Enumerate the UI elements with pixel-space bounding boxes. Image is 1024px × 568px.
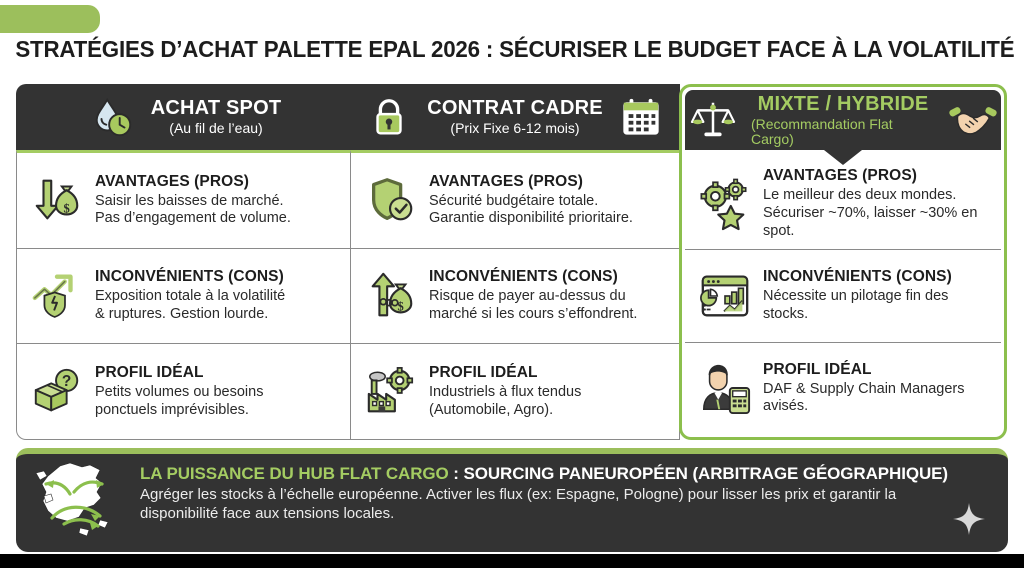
strategy-matrix: ACHAT SPOT (Au fil de l’eau) $ (16, 84, 1008, 440)
cell-profile: PROFIL IDÉAL Industriels à flux tendus(A… (351, 344, 679, 439)
column-subtitle: (Recommandation Flat Cargo) (751, 117, 935, 146)
cell-heading: INCONVÉNIENTS (CONS) (429, 268, 637, 286)
hub-banner-headline-rest: SOURCING PANEUROPÉEN (ARBITRAGE GÉOGRAPH… (463, 464, 947, 483)
infographic-page: STRATÉGIES D’ACHAT PALETTE EPAL 2026 : S… (0, 0, 1024, 568)
volatility-arrow-broken-shield-icon (29, 268, 85, 324)
cell-heading: AVANTAGES (PROS) (429, 173, 633, 191)
cell-heading: PROFIL IDÉAL (95, 364, 263, 382)
column-body-achat-spot: $ AVANTAGES (PROS) Saisir les baisses de… (16, 150, 350, 440)
hub-banner-headline-separator: : (449, 464, 464, 483)
column-header-mixte-hybride: MIXTE / HYBRIDE (Recommandation Flat Car… (685, 90, 1001, 150)
column-subtitle: (Prix Fixe 6-12 mois) (450, 121, 579, 136)
cell-heading: AVANTAGES (PROS) (763, 167, 991, 185)
sparkle-icon (952, 502, 986, 536)
dashboard-analytics-icon (697, 268, 753, 324)
cell-cons: INCONVÉNIENTS (CONS) Nécessite un pilota… (685, 250, 1001, 342)
page-title: STRATÉGIES D’ACHAT PALETTE EPAL 2026 : S… (15, 36, 1008, 63)
padlock-icon (361, 89, 417, 145)
cell-profile: PROFIL IDÉAL DAF & Supply Chain Managers… (685, 343, 1001, 434)
cell-body: DAF & Supply Chain Managersavisés. (763, 381, 965, 416)
cell-body: Sécurité budgétaire totale.Garantie disp… (429, 193, 633, 228)
hub-banner-headline-highlight: LA PUISSANCE DU HUB FLAT CARGO (140, 464, 449, 483)
hub-banner-text: LA PUISSANCE DU HUB FLAT CARGO : SOURCIN… (134, 454, 1008, 524)
cell-heading: INCONVÉNIENTS (CONS) (95, 268, 285, 286)
cell-heading: AVANTAGES (PROS) (95, 173, 291, 191)
svg-text:$: $ (64, 202, 70, 216)
cell-pros: $ AVANTAGES (PROS) Saisir les baisses de… (17, 153, 350, 249)
calendar-icon (613, 89, 669, 145)
up-arrow-chained-money-bag-icon: $ (363, 268, 419, 324)
svg-text:$: $ (398, 299, 404, 313)
cell-profile: ? PROFIL IDÉAL Petits volumes ou besoins… (17, 344, 350, 439)
cell-body: Exposition totale à la volatilité& ruptu… (95, 288, 285, 323)
hub-banner-body: Agréger les stocks à l’échelle européenn… (140, 486, 896, 523)
cell-heading: INCONVÉNIENTS (CONS) (763, 268, 952, 286)
cell-cons: $ INCONVÉNIENTS (CONS) Risque de payer a… (351, 249, 679, 345)
businessman-calculator-icon (697, 360, 753, 416)
cell-body: Le meilleur des deux mondes.Sécuriser ~7… (763, 187, 991, 240)
cell-heading: PROFIL IDÉAL (763, 361, 965, 379)
cell-body: Risque de payer au-dessus dumarché si le… (429, 288, 637, 323)
down-arrow-money-bag-icon: $ (29, 172, 85, 228)
europe-map-flows-icon (28, 458, 128, 544)
cell-body: Industriels à flux tendus(Automobile, Ag… (429, 384, 581, 419)
column-achat-spot: ACHAT SPOT (Au fil de l’eau) $ (16, 84, 350, 440)
cell-body: Nécessite un pilotage fin desstocks. (763, 288, 952, 323)
corner-accent-tab (0, 5, 100, 33)
box-question-mark-icon: ? (29, 364, 85, 420)
cell-pros: AVANTAGES (PROS) Sécurité budgétaire tot… (351, 153, 679, 249)
gears-star-icon (697, 176, 753, 232)
column-title: MIXTE / HYBRIDE (758, 94, 929, 115)
column-header-contrat-cadre: CONTRAT CADRE (Prix Fixe 6-12 mois) (350, 84, 680, 150)
column-body-mixte-hybride: AVANTAGES (PROS) Le meilleur des deux mo… (685, 150, 1001, 434)
factory-gear-icon (363, 364, 419, 420)
cell-cons: INCONVÉNIENTS (CONS) Exposition totale à… (17, 249, 350, 345)
cell-body: Petits volumes ou besoinsponctuels impré… (95, 384, 263, 419)
column-title: CONTRAT CADRE (427, 98, 603, 119)
column-contrat-cadre: CONTRAT CADRE (Prix Fixe 6-12 mois) (350, 84, 680, 440)
column-header-achat-spot: ACHAT SPOT (Au fil de l’eau) (16, 84, 350, 150)
cell-pros: AVANTAGES (PROS) Le meilleur des deux mo… (685, 150, 1001, 250)
column-title: ACHAT SPOT (151, 98, 282, 119)
column-mixte-hybride: MIXTE / HYBRIDE (Recommandation Flat Car… (679, 84, 1007, 440)
column-subtitle: (Au fil de l’eau) (169, 121, 262, 136)
cell-body: Saisir les baisses de marché.Pas d’engag… (95, 193, 291, 228)
balance-scale-icon (685, 92, 741, 148)
hub-banner: LA PUISSANCE DU HUB FLAT CARGO : SOURCIN… (16, 448, 1008, 552)
water-drop-icon (85, 89, 141, 145)
recommendation-pointer (824, 150, 862, 165)
handshake-icon (945, 92, 1001, 148)
hub-banner-headline: LA PUISSANCE DU HUB FLAT CARGO : SOURCIN… (140, 464, 948, 483)
cell-heading: PROFIL IDÉAL (429, 364, 581, 382)
footer-strip (0, 554, 1024, 568)
shield-check-icon (363, 172, 419, 228)
column-body-contrat-cadre: AVANTAGES (PROS) Sécurité budgétaire tot… (350, 150, 680, 440)
